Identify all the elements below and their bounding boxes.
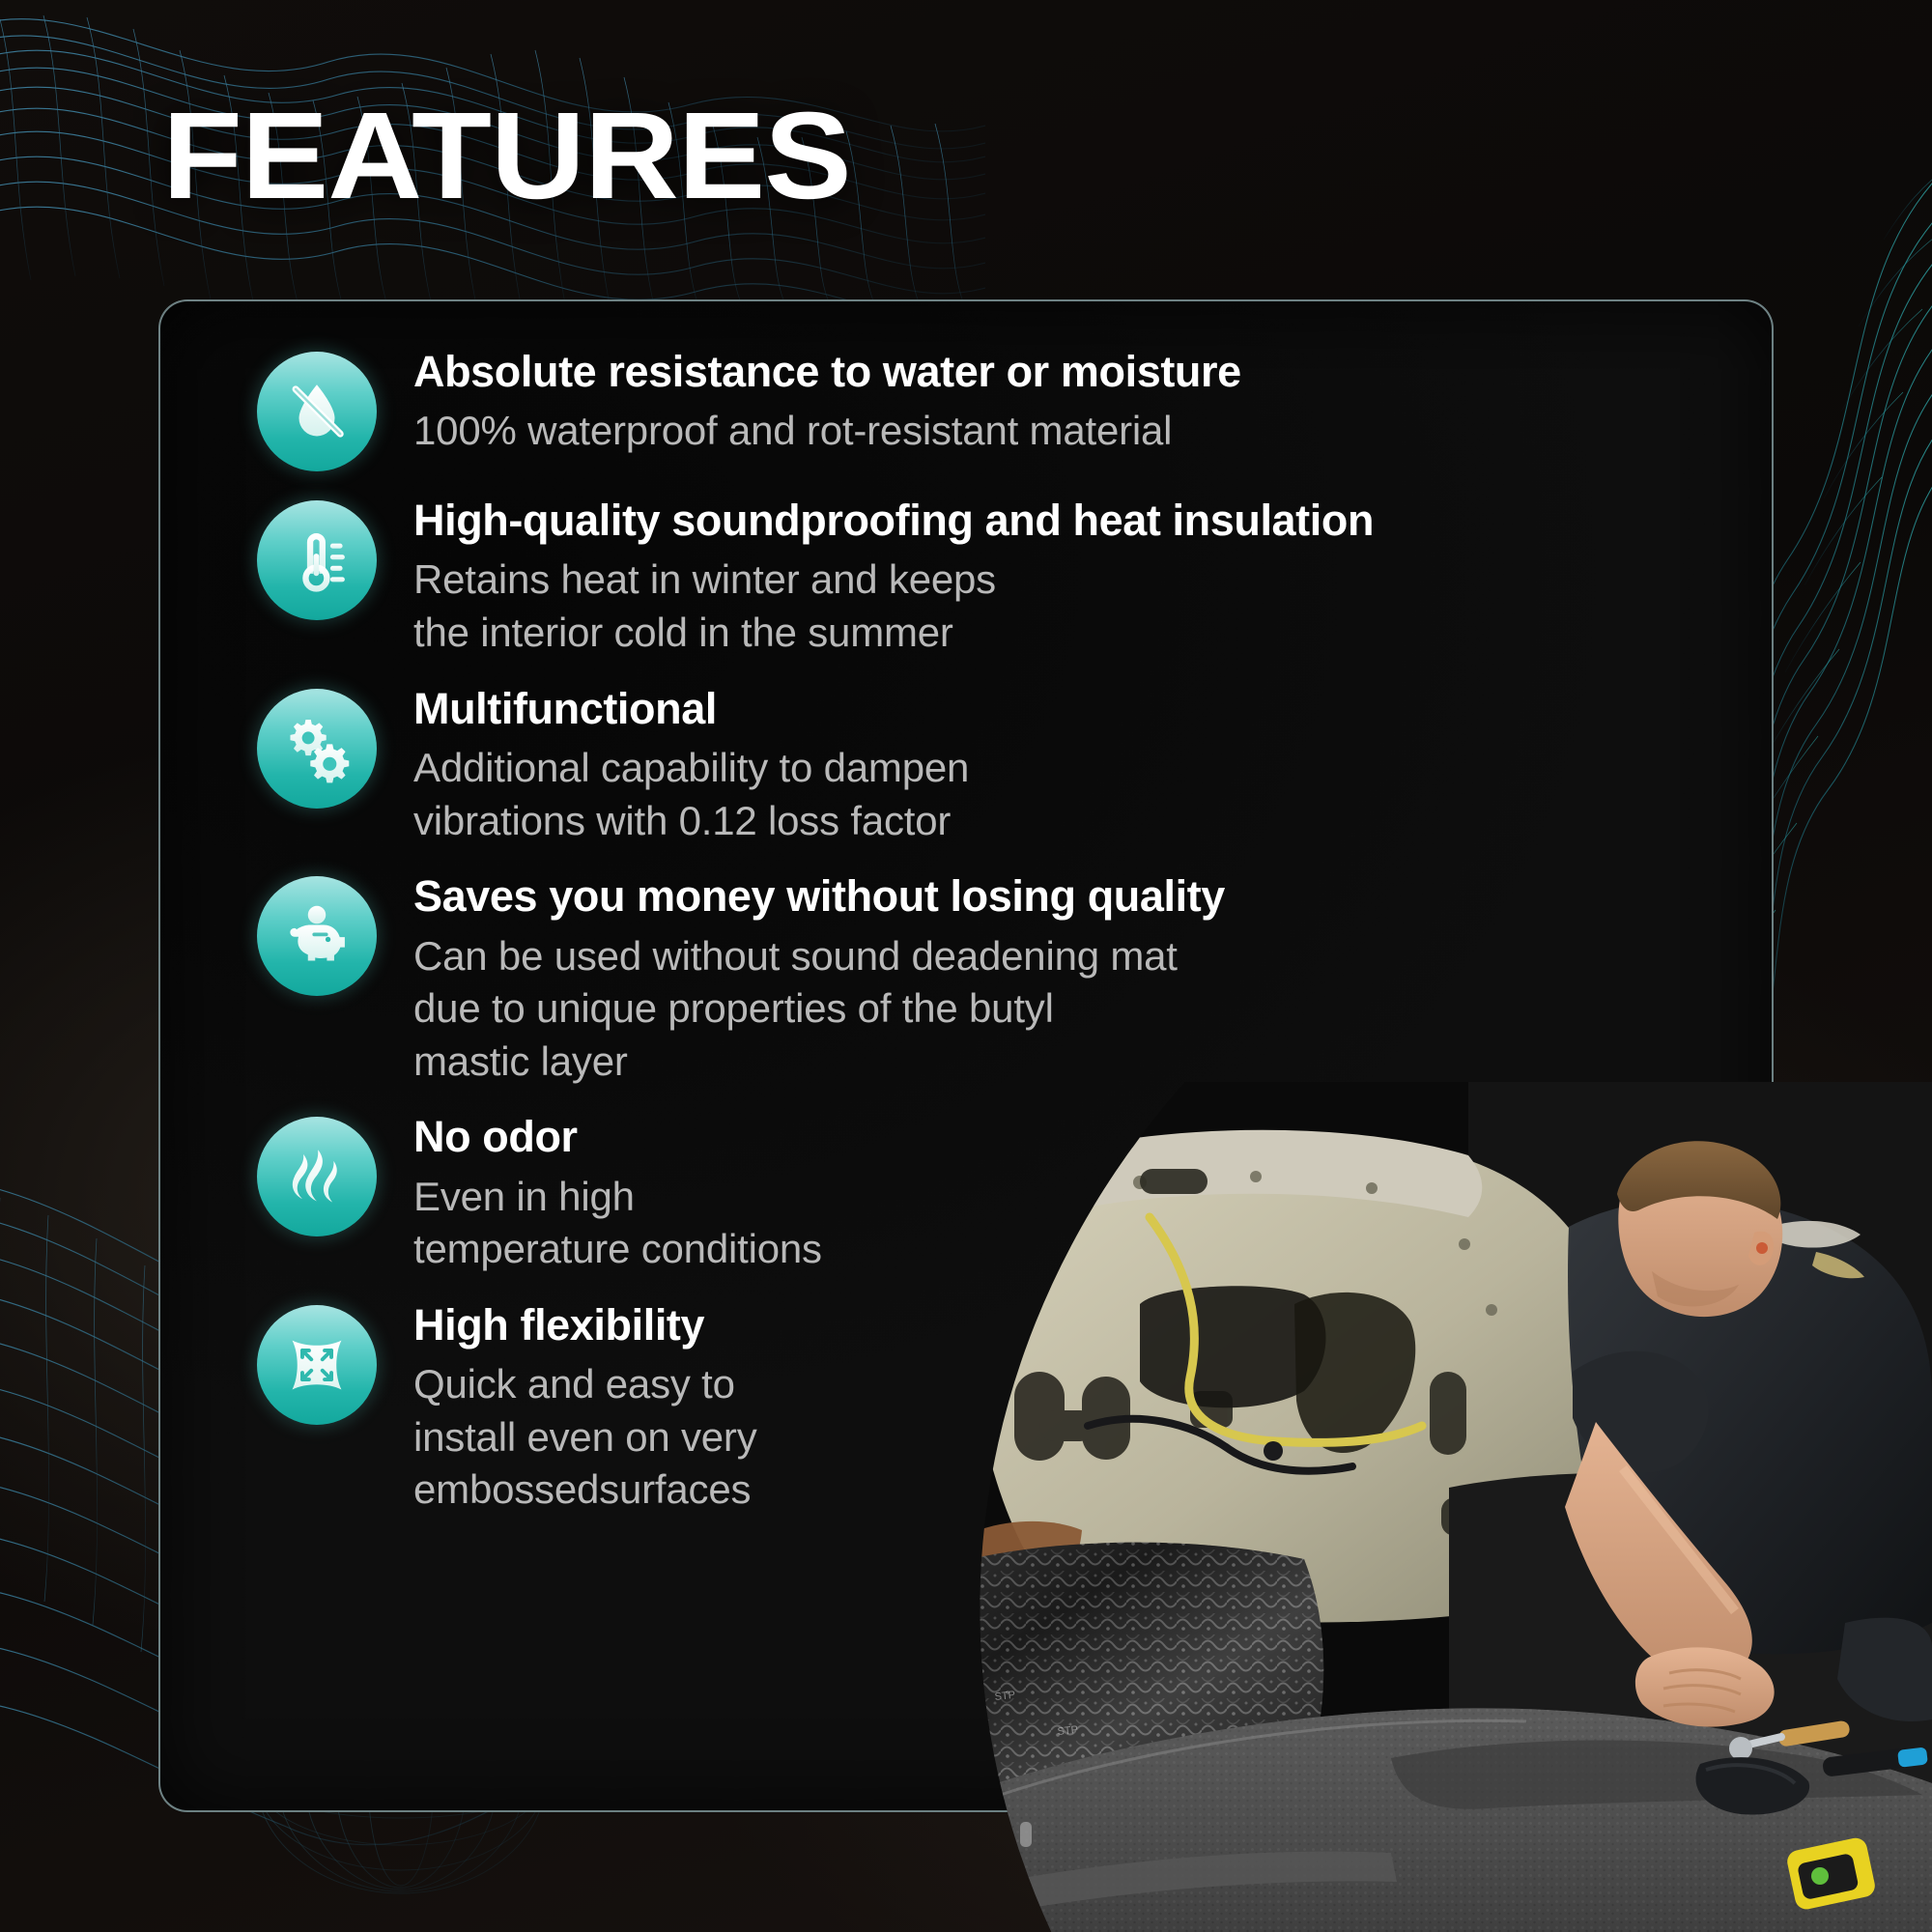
feature-description: Additional capability to dampen vibratio… [413,742,1764,847]
no-water-drop-icon [281,376,353,447]
poster-canvas: FEATURES [0,0,1932,1932]
stretch-arrows-icon [281,1329,353,1401]
svg-text:STP: STP [1057,1724,1079,1738]
feature-title: Absolute resistance to water or moisture [413,348,1764,396]
icon-circle [257,1117,377,1236]
feature-item-waterproof: Absolute resistance to water or moisture… [257,344,1764,471]
icon-circle [257,352,377,471]
icon-slot [257,876,377,996]
svg-text:STP: STP [994,1690,1016,1703]
icon-slot [257,1305,377,1425]
feature-text: Saves you money without losing quality C… [413,868,1764,1088]
feature-item-saves-money: Saves you money without losing quality C… [257,868,1764,1088]
icon-slot [257,689,377,809]
icon-circle [257,876,377,996]
feature-title: Saves you money without losing quality [413,872,1764,921]
feature-item-multifunctional: Multifunctional Additional capability to… [257,681,1764,848]
icon-circle [257,500,377,620]
thermometer-icon [281,525,353,596]
icon-slot [257,500,377,620]
feature-text: Absolute resistance to water or moisture… [413,344,1764,458]
feature-description: Can be used without sound deadening mat … [413,930,1764,1089]
page-title: FEATURES [162,95,851,218]
icon-slot [257,352,377,471]
icon-circle [257,1305,377,1425]
icon-circle [257,689,377,809]
odor-waves-icon [281,1141,353,1212]
feature-text: Multifunctional Additional capability to… [413,681,1764,848]
feature-description: 100% waterproof and rot-resistant materi… [413,405,1764,458]
gears-icon [281,713,353,784]
feature-title: Multifunctional [413,685,1764,733]
icon-slot [257,1117,377,1236]
feature-description: Retains heat in winter and keeps the int… [413,554,1764,659]
feature-text: High-quality soundproofing and heat insu… [413,493,1764,660]
feature-title: High-quality soundproofing and heat insu… [413,497,1764,545]
feature-item-insulation: High-quality soundproofing and heat insu… [257,493,1764,660]
piggy-bank-icon [281,900,353,972]
